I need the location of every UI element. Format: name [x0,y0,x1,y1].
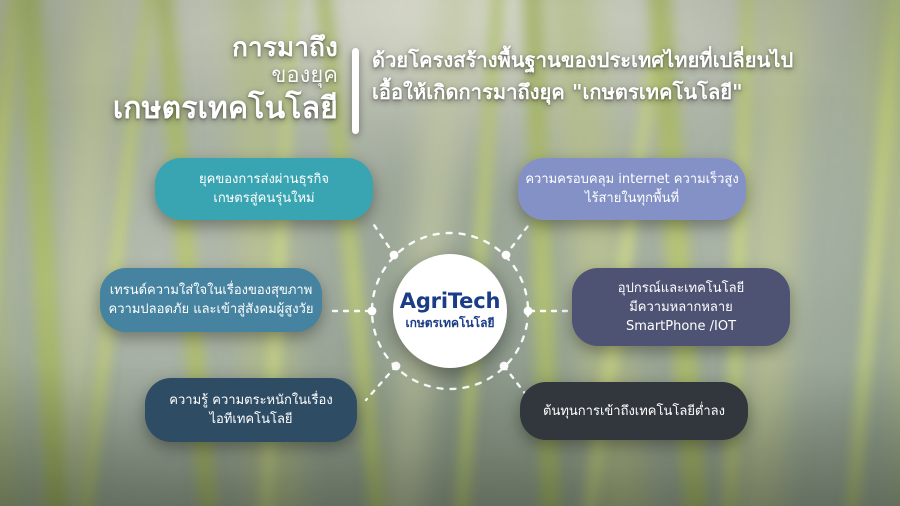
node-middle-left[interactable]: เทรนด์ความใส่ใจในเรื่องของสุขภาพ ความปลอ… [100,268,322,332]
node-bottom-left[interactable]: ความรู้ ความตระหนักในเรื่อง ไอทีเทคโนโลย… [145,378,357,442]
page-title-line1: การมาถึง [0,34,338,63]
hub-label-th: เกษตรเทคโนโลยี [405,314,494,333]
node-top-right-line2: ไร้สายในทุกพื้นที่ [585,189,679,208]
node-top-left-line2: เกษตรสู่คนรุ่นใหม่ [213,189,314,208]
header-divider [352,48,359,134]
page-title-line2: ของยุค [0,63,338,89]
hub-label-en: AgriTech [400,289,500,313]
header-subtitle-block: ด้วยโครงสร้างพื้นฐานของประเทศไทยที่เปลี่… [372,44,892,108]
hub-agritech[interactable]: AgriTech เกษตรเทคโนโลยี [393,254,507,368]
node-middle-left-line1: เทรนด์ความใส่ใจในเรื่องของสุขภาพ [110,281,313,300]
node-bottom-right-line1: ต้นทุนการเข้าถึงเทคโนโลยีต่ำลง [543,402,725,421]
node-bottom-left-line1: ความรู้ ความตระหนักในเรื่อง [169,391,332,410]
header: การมาถึง ของยุค เกษตรเทคโนโลยี ด้วยโครงส… [0,34,900,140]
page-title-line3: เกษตรเทคโนโลยี [0,91,338,127]
infographic-canvas: การมาถึง ของยุค เกษตรเทคโนโลยี ด้วยโครงส… [0,0,900,506]
header-title-block: การมาถึง ของยุค เกษตรเทคโนโลยี [0,34,338,127]
node-middle-right-line2: มีความหลากหลาย [629,298,733,317]
page-subtitle-line1: ด้วยโครงสร้างพื้นฐานของประเทศไทยที่เปลี่… [372,44,892,76]
node-middle-right-line3: SmartPhone /IOT [626,317,736,336]
page-subtitle-line2: เอื้อให้เกิดการมาถึงยุค "เกษตรเทคโนโลยี" [372,76,892,108]
node-bottom-left-line2: ไอทีเทคโนโลยี [209,410,292,429]
node-middle-left-line2: ความปลอดภัย และเข้าสู่สังคมผู้สูงวัย [109,300,314,319]
node-top-left[interactable]: ยุคของการส่งผ่านธุรกิจ เกษตรสู่คนรุ่นใหม… [155,158,373,220]
node-middle-right[interactable]: อุปกรณ์และเทคโนโลยี มีความหลากหลาย Smart… [572,268,790,346]
node-top-left-line1: ยุคของการส่งผ่านธุรกิจ [199,170,329,189]
node-middle-right-line1: อุปกรณ์และเทคโนโลยี [618,279,744,298]
node-top-right-line1: ความครอบคลุม internet ความเร็วสูง [525,170,738,189]
node-top-right[interactable]: ความครอบคลุม internet ความเร็วสูง ไร้สาย… [518,158,746,220]
node-bottom-right[interactable]: ต้นทุนการเข้าถึงเทคโนโลยีต่ำลง [520,382,748,440]
